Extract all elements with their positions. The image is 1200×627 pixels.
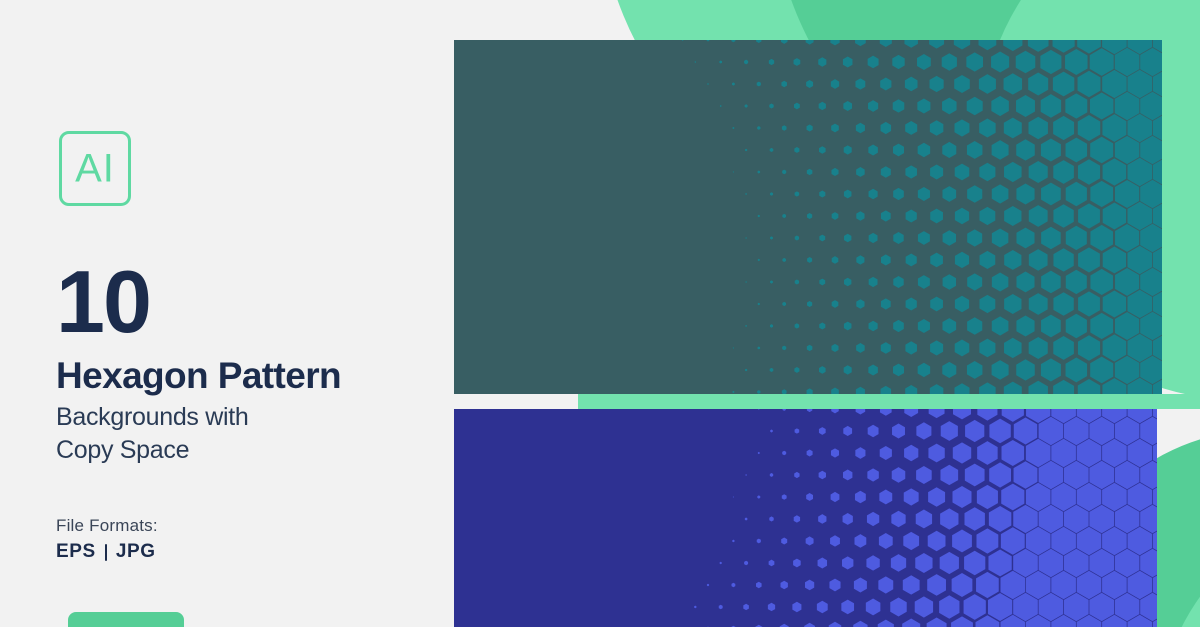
promo-graphic: AI 10 Hexagon Pattern Backgrounds with C…	[0, 0, 1200, 627]
file-formats-value: EPS JPG	[56, 541, 156, 563]
page-subtitle-line-1: Backgrounds with	[56, 401, 249, 434]
file-formats-label: File Formats:	[56, 516, 158, 536]
page-title: Hexagon Pattern	[56, 355, 341, 397]
hexagon-halftone-pattern-teal	[454, 40, 1162, 394]
teal-hexagon-preview	[454, 40, 1162, 394]
green-separator-strip	[578, 394, 1200, 409]
hexagon-halftone-pattern-blue	[454, 409, 1157, 627]
item-count: 10	[56, 258, 150, 346]
mint-circle-bottom-right	[1160, 510, 1200, 627]
format-jpg: JPG	[116, 541, 156, 563]
format-eps: EPS	[56, 541, 96, 563]
ai-badge-label: AI	[62, 146, 128, 191]
illustrator-file-icon: AI	[59, 131, 131, 206]
page-subtitle-line-2: Copy Space	[56, 434, 249, 467]
page-subtitle: Backgrounds with Copy Space	[56, 401, 249, 467]
format-divider-icon	[105, 544, 107, 561]
cta-button[interactable]	[68, 612, 184, 627]
blue-hexagon-preview	[454, 409, 1157, 627]
